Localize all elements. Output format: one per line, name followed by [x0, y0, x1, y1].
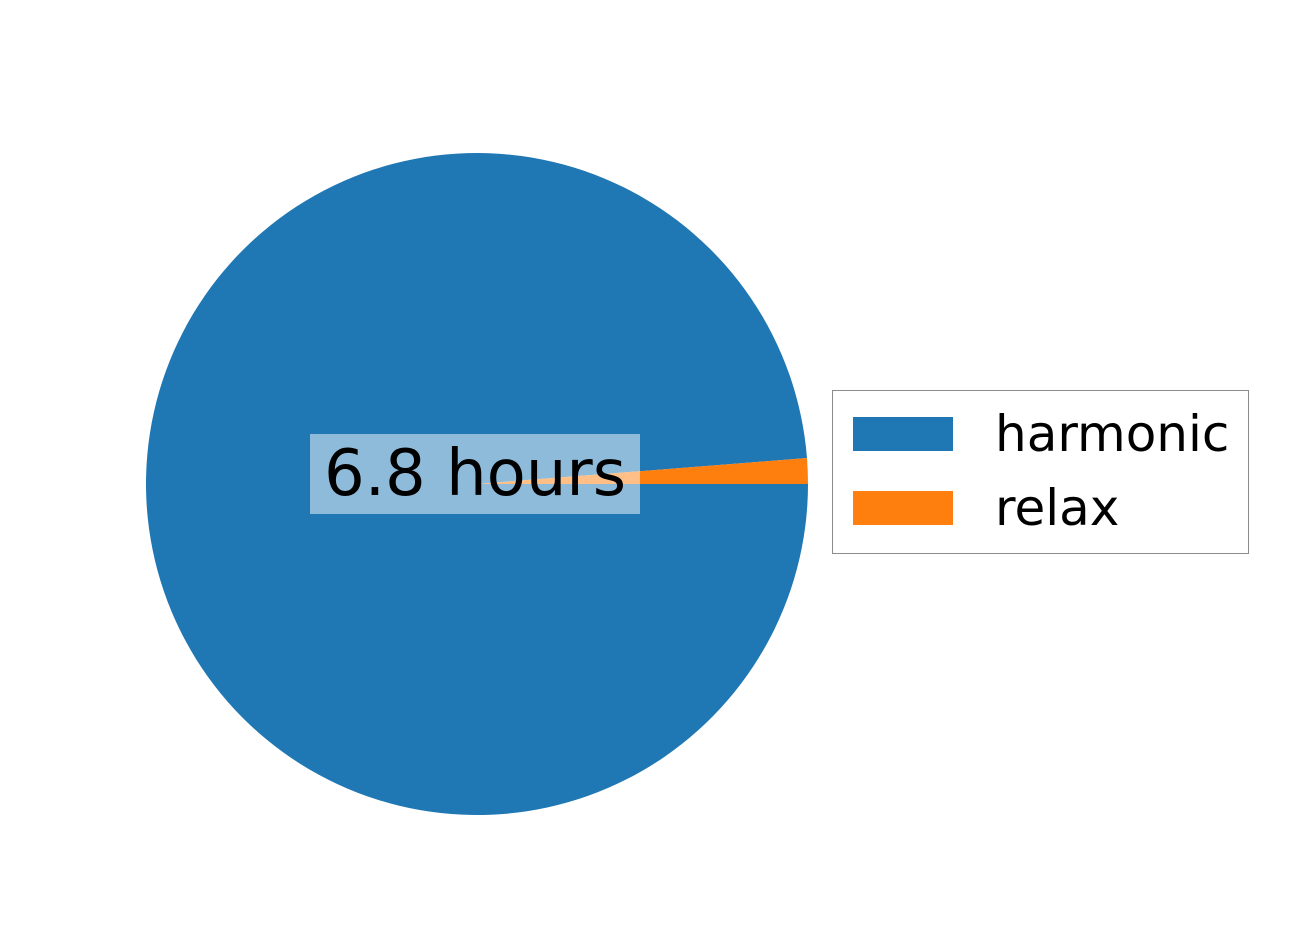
pie-autopct-label: 6.8 hours	[310, 434, 640, 514]
legend: harmonic relax	[832, 390, 1249, 554]
legend-swatch-harmonic	[853, 417, 953, 451]
legend-entry-relax[interactable]: relax	[853, 491, 1119, 525]
pie-autopct-label-text: 6.8 hours	[324, 442, 626, 506]
legend-label-relax: relax	[995, 491, 1119, 525]
legend-swatch-relax	[853, 491, 953, 525]
pie-chart-figure: 6.8 hours harmonic relax	[0, 0, 1307, 951]
legend-label-harmonic: harmonic	[995, 417, 1229, 451]
legend-entry-harmonic[interactable]: harmonic	[853, 417, 1229, 451]
